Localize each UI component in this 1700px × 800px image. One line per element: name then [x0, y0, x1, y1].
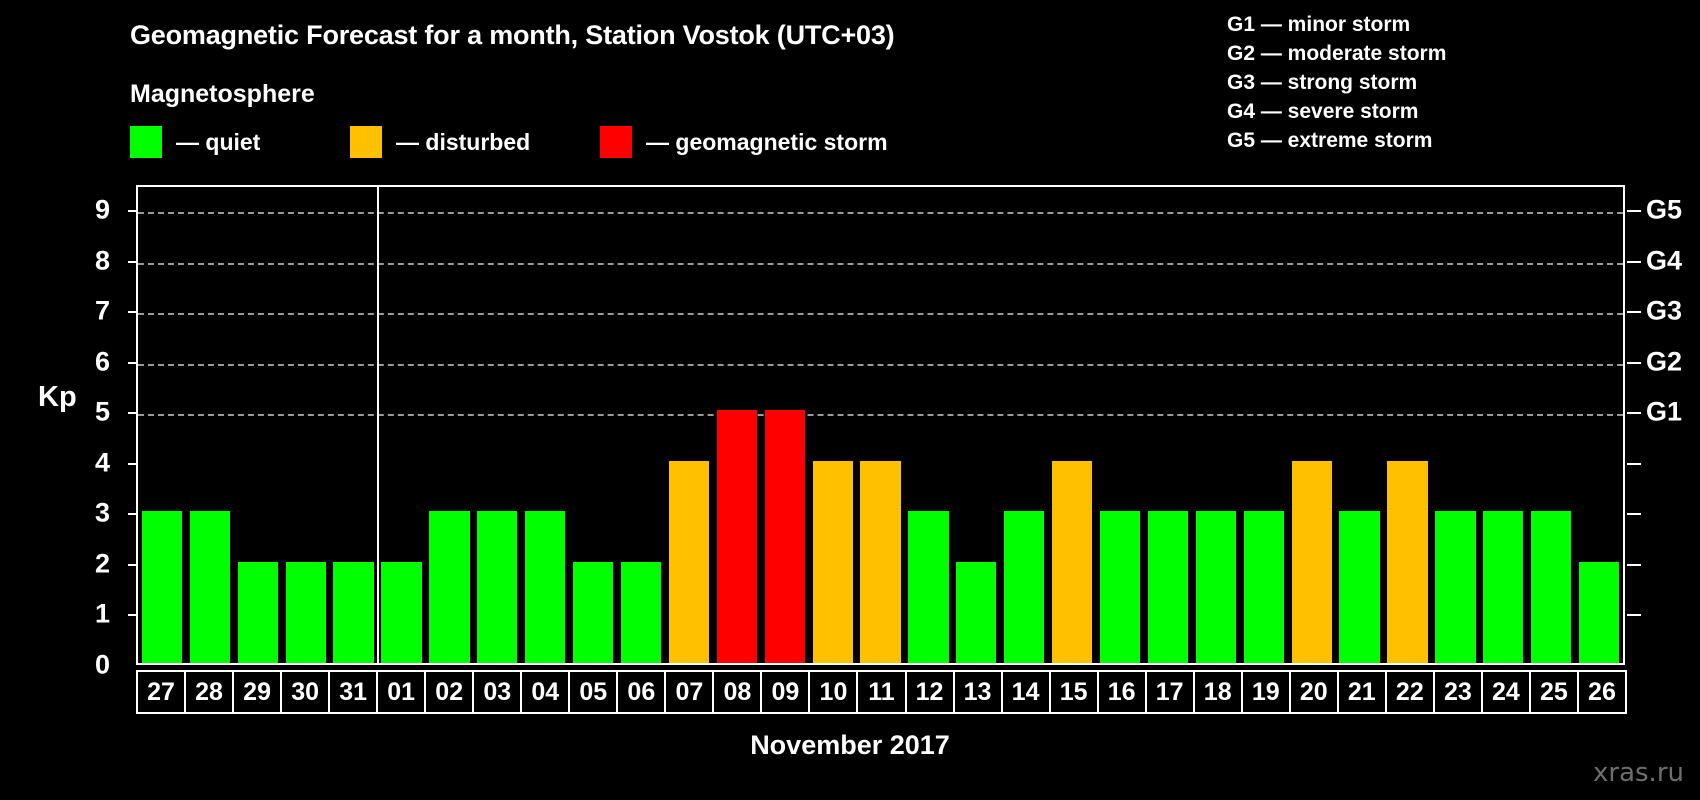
bar-cell — [617, 187, 665, 663]
bar — [1052, 461, 1092, 663]
bar-cell — [282, 187, 330, 663]
y-axis-tick-label: 7 — [70, 296, 110, 327]
bar — [381, 562, 421, 663]
bar-cell — [569, 187, 617, 663]
g-axis-tick-mark — [1627, 513, 1641, 515]
bar — [1196, 511, 1236, 663]
x-axis-day-cell: 30 — [280, 670, 330, 714]
x-axis-day-cell: 20 — [1289, 670, 1339, 714]
storm-scale-row-g4: G4 — severe storm — [1227, 97, 1446, 126]
bar — [1100, 511, 1140, 663]
bar — [1244, 511, 1284, 663]
bar — [525, 511, 565, 663]
bar — [1435, 511, 1475, 663]
x-axis-day-cell: 02 — [424, 670, 474, 714]
storm-scale-legend: G1 — minor storm G2 — moderate storm G3 … — [1227, 10, 1446, 155]
y-axis-tick-label: 5 — [70, 397, 110, 428]
bar — [1004, 511, 1044, 663]
g-axis-tick-mark — [1627, 412, 1641, 414]
bar — [1148, 511, 1188, 663]
bar — [1579, 562, 1619, 663]
bar — [1292, 461, 1332, 663]
x-axis-day-cell: 03 — [472, 670, 522, 714]
x-axis-day-cell: 15 — [1049, 670, 1099, 714]
bar — [765, 410, 805, 663]
bar-cell — [1575, 187, 1623, 663]
x-axis-day-cell: 06 — [616, 670, 666, 714]
storm-scale-row-g2: G2 — moderate storm — [1227, 39, 1446, 68]
g-axis-tick-mark — [1627, 564, 1641, 566]
month-boundary-line — [377, 187, 379, 663]
g-axis-tick-mark — [1627, 362, 1641, 364]
bar-cell — [1384, 187, 1432, 663]
bar — [1387, 461, 1427, 663]
g-axis-tick-mark — [1627, 261, 1641, 263]
watermark: xras.ru — [1593, 758, 1684, 788]
g-axis-tick-label: G3 — [1646, 296, 1682, 327]
bar-cell — [186, 187, 234, 663]
page-title: Geomagnetic Forecast for a month, Statio… — [130, 20, 894, 51]
y-axis-tick-label: 1 — [70, 599, 110, 630]
bar — [190, 511, 230, 663]
bar — [1531, 511, 1571, 663]
bar-cell — [234, 187, 282, 663]
bar-cell — [1096, 187, 1144, 663]
bar-cell — [473, 187, 521, 663]
y-axis-tick-label: 9 — [70, 195, 110, 226]
bar-cell — [1144, 187, 1192, 663]
legend-label-geomagnetic-storm: — geomagnetic storm — [646, 129, 888, 156]
bar — [238, 562, 278, 663]
bar — [956, 562, 996, 663]
bar-cell — [1479, 187, 1527, 663]
x-axis-day-cell: 04 — [520, 670, 570, 714]
y-axis-tick-label: 3 — [70, 498, 110, 529]
bar-cell — [425, 187, 473, 663]
g-axis-tick-mark — [1627, 210, 1641, 212]
bar-cell — [1000, 187, 1048, 663]
legend-item-disturbed: — disturbed — [350, 126, 530, 158]
bar-cell — [1048, 187, 1096, 663]
bar-cell — [330, 187, 378, 663]
bar-cell — [1431, 187, 1479, 663]
bar — [908, 511, 948, 663]
x-axis-day-cell: 26 — [1577, 670, 1627, 714]
x-axis-day-cell: 14 — [1001, 670, 1051, 714]
bar-cell — [1240, 187, 1288, 663]
x-axis-day-cell: 18 — [1193, 670, 1243, 714]
legend-item-geomagnetic-storm: — geomagnetic storm — [600, 126, 888, 158]
legend-swatch-quiet — [130, 126, 162, 158]
y-axis-tick-label: 2 — [70, 548, 110, 579]
x-axis-day-cell: 07 — [664, 670, 714, 714]
bar — [429, 511, 469, 663]
section-label-magnetosphere: Magnetosphere — [130, 80, 315, 109]
bar — [573, 562, 613, 663]
x-axis-day-cell: 21 — [1337, 670, 1387, 714]
x-axis-day-labels: 2728293031010203040506070809101112131415… — [136, 670, 1625, 714]
x-axis-day-cell: 10 — [808, 670, 858, 714]
storm-scale-row-g5: G5 — extreme storm — [1227, 126, 1446, 155]
bar — [333, 562, 373, 663]
bar — [621, 562, 661, 663]
legend-label-quiet: — quiet — [176, 129, 260, 156]
bar-cell — [1527, 187, 1575, 663]
g-axis-tick-label: G1 — [1646, 397, 1682, 428]
x-axis-day-cell: 05 — [568, 670, 618, 714]
legend-swatch-geomagnetic-storm — [600, 126, 632, 158]
bar-cell — [378, 187, 426, 663]
x-axis-caption: November 2017 — [0, 730, 1700, 761]
x-axis-day-cell: 08 — [712, 670, 762, 714]
bar-cell — [138, 187, 186, 663]
bar-cell — [857, 187, 905, 663]
y-axis-tick-label: 6 — [70, 346, 110, 377]
x-axis-day-cell: 11 — [856, 670, 906, 714]
bar — [1483, 511, 1523, 663]
x-axis-day-cell: 23 — [1433, 670, 1483, 714]
x-axis-day-cell: 29 — [232, 670, 282, 714]
bar — [813, 461, 853, 663]
bar-cell — [713, 187, 761, 663]
g-axis-tick-label: G2 — [1646, 346, 1682, 377]
bar — [669, 461, 709, 663]
bar-cell — [809, 187, 857, 663]
legend-label-disturbed: — disturbed — [396, 129, 530, 156]
bar-cell — [761, 187, 809, 663]
bar — [286, 562, 326, 663]
y-axis-tick-label: 8 — [70, 245, 110, 276]
y-axis-tick-label: 0 — [70, 650, 110, 681]
x-axis-day-cell: 16 — [1097, 670, 1147, 714]
bar — [717, 410, 757, 663]
x-axis-day-cell: 24 — [1481, 670, 1531, 714]
bar-cell — [665, 187, 713, 663]
bar-cell — [521, 187, 569, 663]
x-axis-day-cell: 27 — [136, 670, 186, 714]
bar-cell — [952, 187, 1000, 663]
g-axis-tick-label: G4 — [1646, 245, 1682, 276]
storm-scale-row-g1: G1 — minor storm — [1227, 10, 1446, 39]
bar — [860, 461, 900, 663]
g-axis-tick-mark — [1627, 463, 1641, 465]
x-axis-day-cell: 12 — [905, 670, 955, 714]
bar — [142, 511, 182, 663]
chart-root: Geomagnetic Forecast for a month, Statio… — [0, 0, 1700, 800]
g-axis-tick-mark — [1627, 311, 1641, 313]
legend-item-quiet: — quiet — [130, 126, 260, 158]
plot-area — [136, 185, 1625, 665]
bar — [477, 511, 517, 663]
y-axis-tick-label: 4 — [70, 447, 110, 478]
x-axis-day-cell: 17 — [1145, 670, 1195, 714]
storm-scale-row-g3: G3 — strong storm — [1227, 68, 1446, 97]
x-axis-day-cell: 09 — [760, 670, 810, 714]
bar — [1339, 511, 1379, 663]
x-axis-day-cell: 28 — [184, 670, 234, 714]
bar-cell — [1192, 187, 1240, 663]
x-axis-day-cell: 25 — [1529, 670, 1579, 714]
bar-series — [138, 187, 1623, 663]
bar-cell — [905, 187, 953, 663]
x-axis-day-cell: 01 — [376, 670, 426, 714]
x-axis-day-cell: 22 — [1385, 670, 1435, 714]
x-axis-day-cell: 31 — [328, 670, 378, 714]
x-axis-day-cell: 19 — [1241, 670, 1291, 714]
g-axis-tick-mark — [1627, 614, 1641, 616]
g-axis-tick-label: G5 — [1646, 195, 1682, 226]
legend-swatch-disturbed — [350, 126, 382, 158]
x-axis-day-cell: 13 — [953, 670, 1003, 714]
bar-cell — [1336, 187, 1384, 663]
bar-cell — [1288, 187, 1336, 663]
